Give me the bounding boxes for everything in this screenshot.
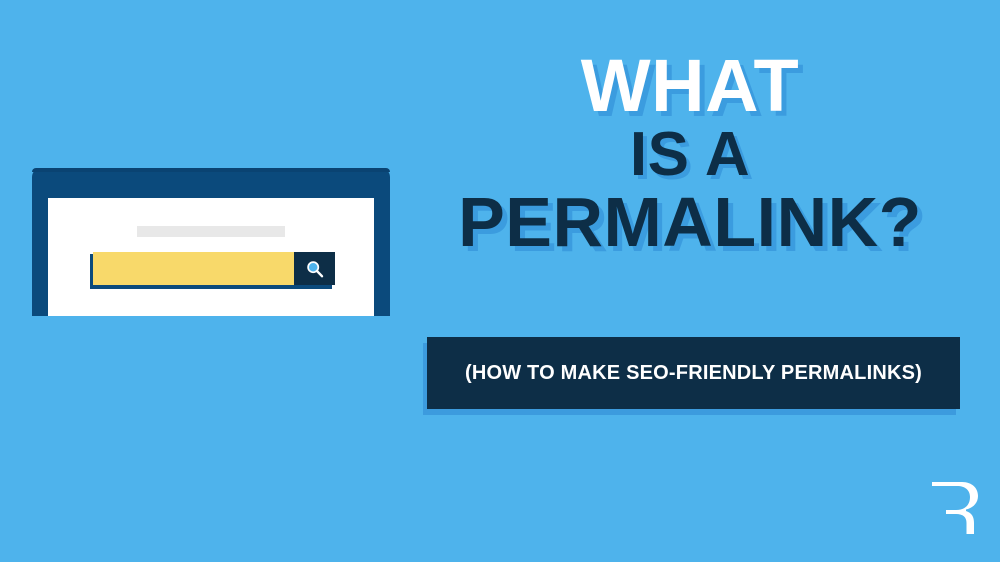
subtitle-text: (HOW TO MAKE SEO-FRIENDLY PERMALINKS)	[465, 362, 922, 385]
headline-line-1: WHAT	[410, 50, 970, 121]
subtitle-bar: (HOW TO MAKE SEO-FRIENDLY PERMALINKS)	[427, 337, 960, 409]
browser-frame-top-edge	[32, 168, 390, 172]
poster-canvas: WHAT IS A PERMALINK? (HOW TO MAKE SEO-FR…	[0, 0, 1000, 562]
headline-block: WHAT IS A PERMALINK?	[410, 50, 970, 256]
search-input[interactable]	[93, 252, 294, 285]
headline-line-3: PERMALINK?	[410, 189, 970, 256]
brand-logo	[928, 476, 982, 540]
search-icon	[305, 259, 325, 279]
content-placeholder-bar	[137, 226, 285, 237]
browser-page	[48, 198, 374, 316]
headline-line-2: IS A	[410, 125, 970, 185]
search-bar	[90, 252, 332, 287]
search-button[interactable]	[294, 252, 335, 285]
browser-mockup	[32, 168, 390, 316]
letter-r-logo-icon	[928, 476, 982, 540]
